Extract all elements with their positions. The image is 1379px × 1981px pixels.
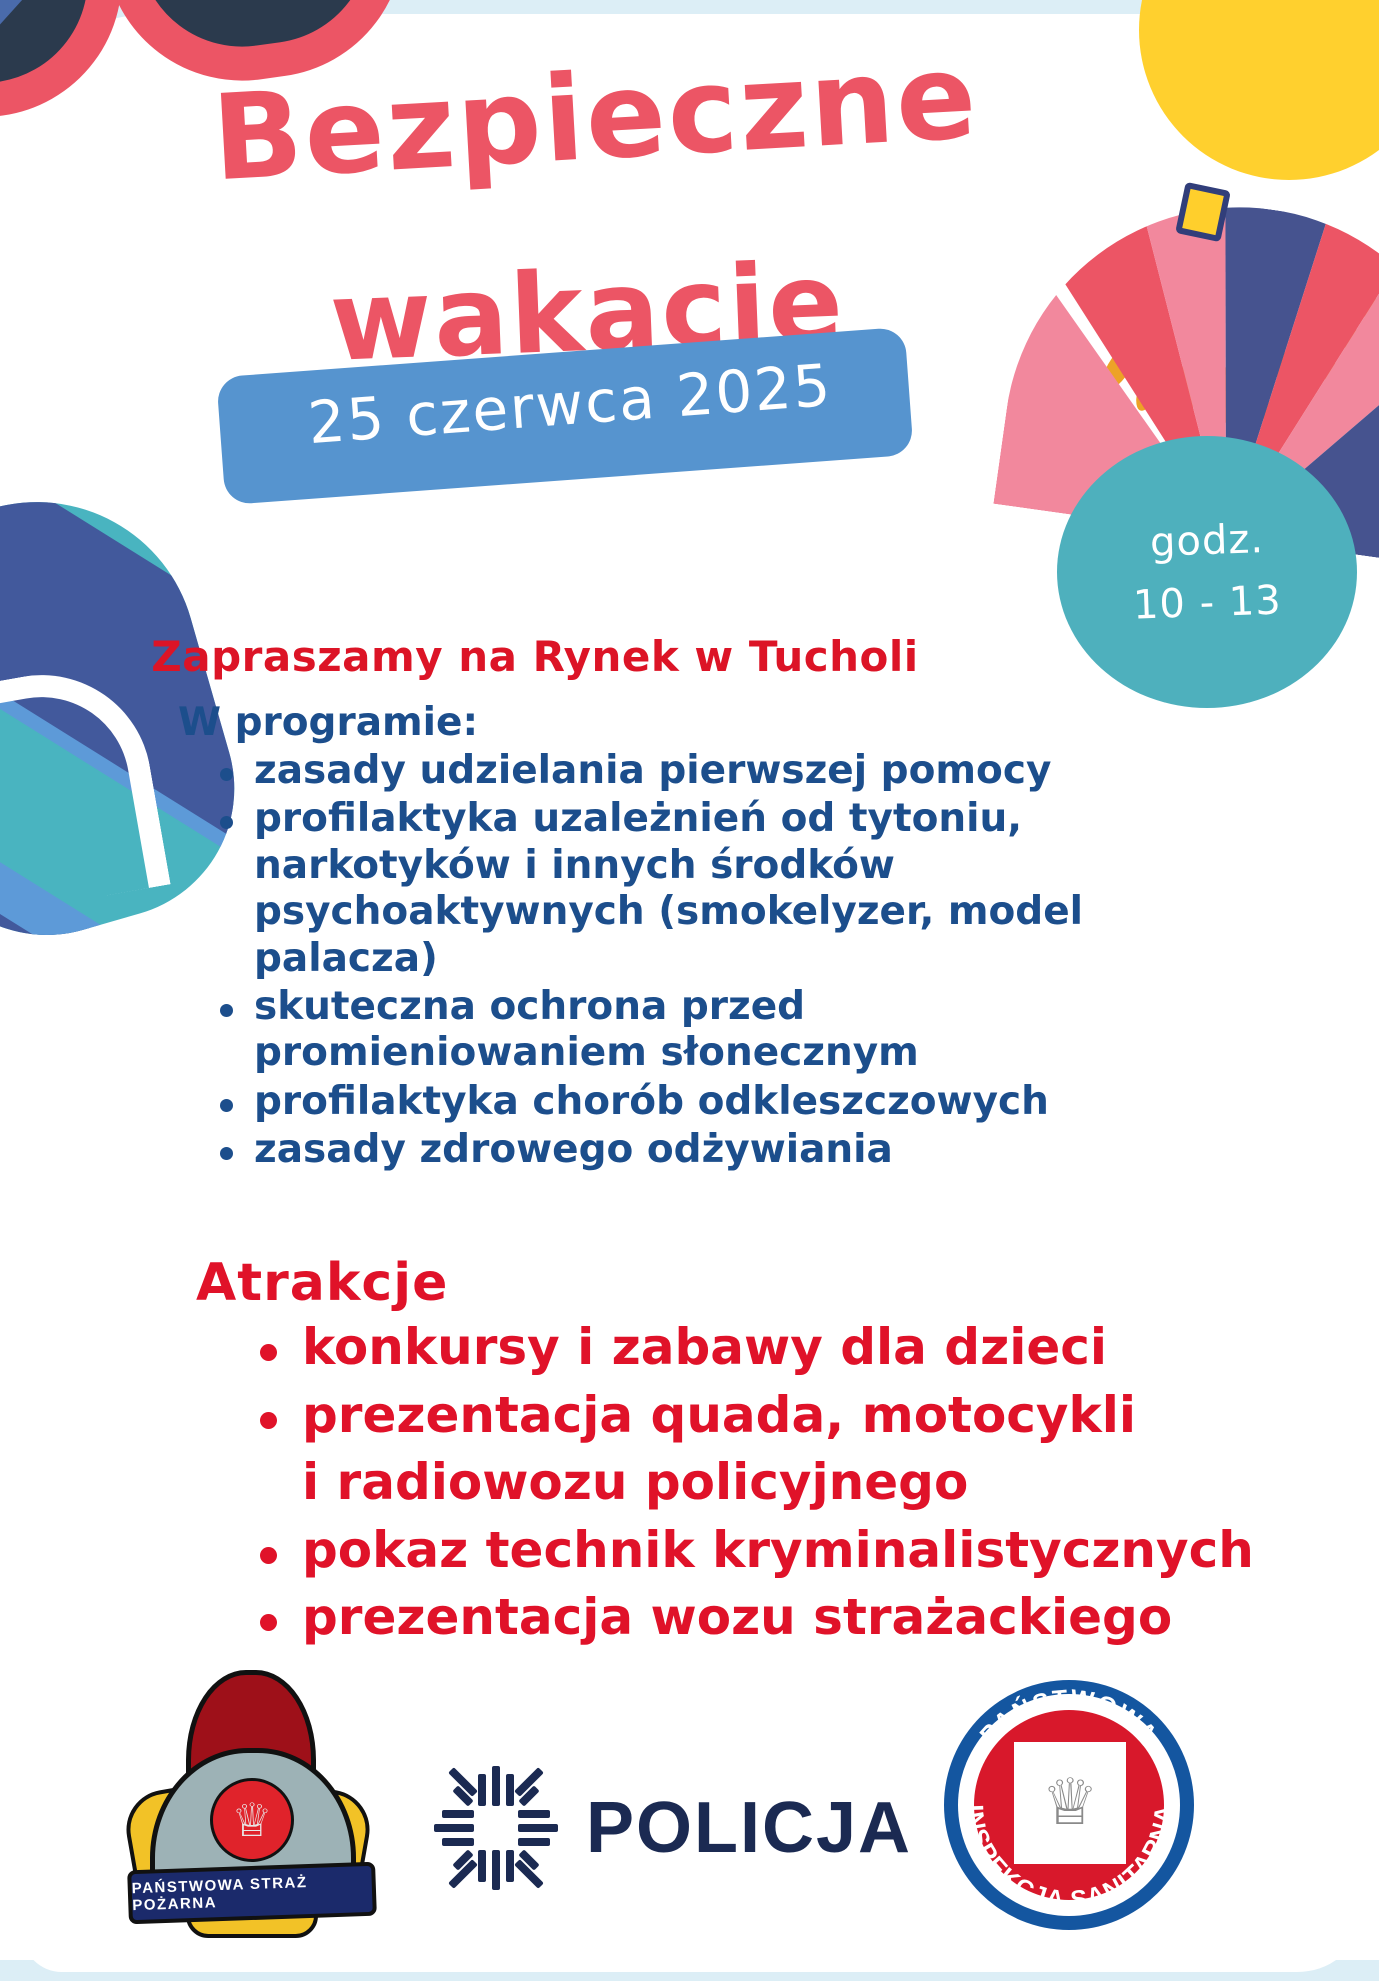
poster-canvas: godz. 10 - 13 Bezpieczne wakacje 25 czer…: [0, 0, 1379, 1981]
list-item: zasady zdrowego odżywiania: [212, 1127, 1132, 1173]
attractions-heading: Atrakcje: [196, 1253, 448, 1313]
panstwowa-straz-pozarna-logo: ♕ PAŃSTWOWA STRAŻ POŻARNA: [128, 1670, 368, 1930]
sun-core: [1139, 0, 1379, 180]
program-heading: W programie:: [178, 700, 478, 745]
list-item: skuteczna ochrona przed promieniowaniem …: [212, 984, 1132, 1077]
hours-badge: godz. 10 - 13: [1057, 436, 1357, 708]
program-list: zasady udzielania pierwszej pomocy profi…: [212, 748, 1132, 1176]
hours-label: godz.: [1149, 508, 1265, 574]
pis-top-text: PAŃSTWOWA: [975, 1684, 1164, 1749]
hours-value: 10 - 13: [1132, 569, 1283, 636]
logo-row: ♕ PAŃSTWOWA STRAŻ POŻARNA: [0, 1660, 1379, 1980]
panstwowa-inspekcja-sanitarna-logo: ♕ PAŃSTWOWA INSPEKCJA SANITARNA: [944, 1680, 1194, 1930]
sunglasses-glint: [0, 0, 98, 87]
list-item-continuation: i radiowozu policyjnego: [252, 1453, 1332, 1513]
list-item: profilaktyka uzależnień od tytoniu, nark…: [212, 796, 1132, 982]
psp-eagle-icon: ♕: [210, 1778, 294, 1862]
list-item: prezentacja quada, motocykli: [252, 1386, 1332, 1446]
list-item: zasady udzielania pierwszej pomocy: [212, 748, 1132, 794]
list-item: pokaz technik kryminalistycznych: [252, 1521, 1332, 1581]
subtitle-location: Zapraszamy na Rynek w Tucholi: [0, 632, 1070, 681]
pis-circular-text: PAŃSTWOWA INSPEKCJA SANITARNA: [944, 1680, 1194, 1930]
list-item: prezentacja wozu strażackiego: [252, 1588, 1332, 1648]
psp-banner-text: PAŃSTWOWA STRAŻ POŻARNA: [127, 1862, 377, 1925]
sunglasses-lens-left: [0, 0, 140, 138]
sunglasses-glint: [0, 0, 20, 113]
attractions-list: konkursy i zabawy dla dzieci prezentacja…: [252, 1318, 1332, 1656]
pis-bottom-text: INSPEKCJA SANITARNA: [960, 1803, 1179, 1914]
list-item: profilaktyka chorób odkleszczowych: [212, 1079, 1132, 1125]
policja-star-icon: [432, 1764, 560, 1892]
policja-wordmark: POLICJA: [586, 1787, 912, 1869]
policja-logo: POLICJA: [432, 1758, 902, 1898]
list-item: konkursy i zabawy dla dzieci: [252, 1318, 1332, 1378]
